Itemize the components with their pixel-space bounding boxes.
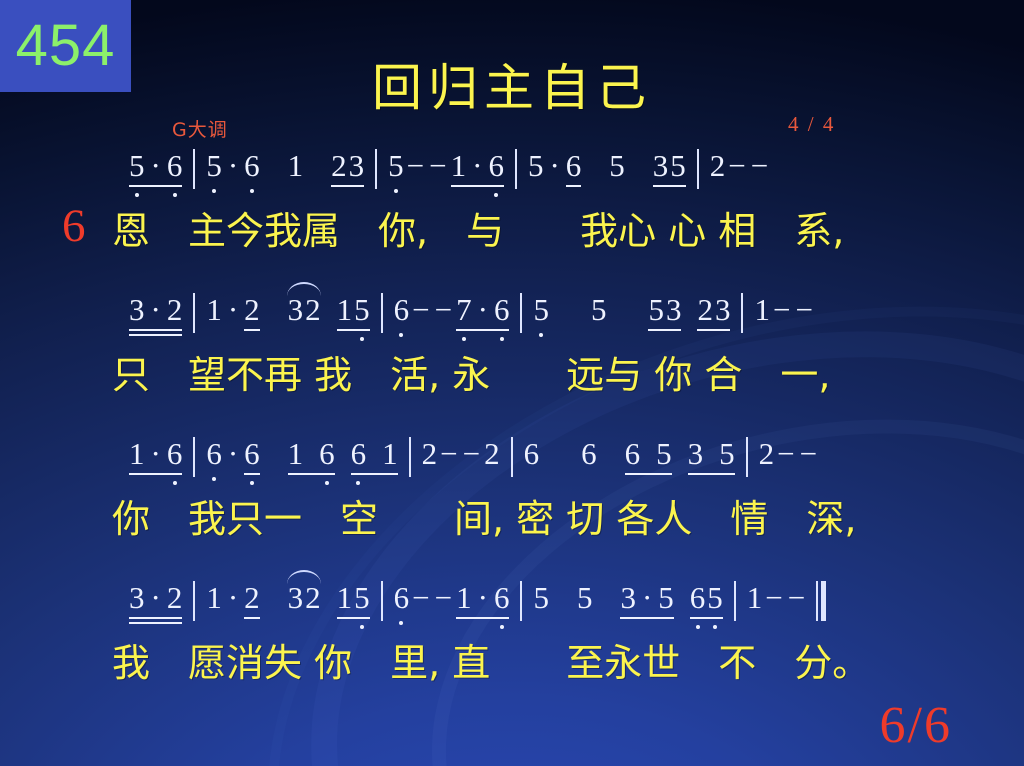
note-group: 1·6 (455, 580, 510, 623)
measure: 1· 2 32 15 (205, 292, 370, 335)
final-barline (816, 581, 826, 629)
measure: 2−− (709, 148, 771, 184)
note-group: 65 (689, 580, 724, 623)
measure: 2−− (758, 436, 820, 472)
barline (734, 581, 736, 621)
barline (511, 437, 513, 477)
note-group: 7·6 (455, 292, 510, 335)
note-group: 15 (336, 580, 371, 623)
note-group: 1·6 (450, 148, 505, 191)
notation-line-3: 1·6 6· 6 16 61 2−−2 (0, 436, 1024, 492)
measure: 5 5 53 23 (532, 292, 731, 335)
page-counter: 6/6 (880, 700, 952, 752)
measure: 5·6 (128, 148, 183, 191)
barline (193, 293, 195, 333)
score-system-3: 1·6 6· 6 16 61 2−−2 (0, 436, 1024, 580)
measure: 5· 6 5 35 (527, 148, 687, 191)
barline (409, 437, 411, 477)
measure: 5−− 1·6 (387, 148, 505, 191)
measure: 1·6 (128, 436, 183, 479)
note-group: 35 (687, 436, 736, 479)
barline (746, 437, 748, 477)
note-group: 3·5 (619, 580, 674, 623)
notation-line-1: 5·6 5·6 1 23 5−− 1·6 (0, 148, 1024, 204)
barline (515, 149, 517, 189)
time-signature-label: 4 / 4 (788, 112, 835, 137)
note-group-slurred: 32 (287, 292, 322, 335)
barline (381, 293, 383, 333)
note-group: 16 (287, 436, 336, 479)
measure: 5·6 1 23 (205, 148, 365, 191)
note-group: 65 (624, 436, 673, 479)
measure: 6· 6 16 61 (205, 436, 398, 479)
lyrics-line-4: 我 愿消失 你 里, 直 至永世 不 分。 (0, 636, 1024, 760)
note-group: 6 (565, 148, 583, 191)
score-system-1: 5·6 5·6 1 23 5−− 1·6 (0, 148, 1024, 292)
measure: 6−− 1·6 (393, 580, 511, 623)
notation-line-4: 3·2 1· 2 32 15 (0, 580, 1024, 636)
note-group: 3·2 (128, 292, 183, 335)
note-group: 35 (652, 148, 687, 191)
measure: 1−− (753, 292, 815, 328)
barline (193, 437, 195, 477)
measure: 1· 2 32 15 (205, 580, 370, 623)
note-group: 5·6 (128, 148, 183, 191)
measure: 6−− 7·6 (393, 292, 511, 335)
note-group-slurred: 32 (287, 580, 322, 623)
music-score: 5·6 5·6 1 23 5−− 1·6 (0, 148, 1024, 724)
barline (520, 293, 522, 333)
song-title: 回归主自己 (0, 48, 1024, 120)
notation-line-2: 3·2 1· 2 32 15 (0, 292, 1024, 348)
note-group: 53 (647, 292, 682, 335)
measure: 2−−2 (421, 436, 501, 472)
measure: 1−− (746, 580, 826, 628)
note-group: 3·2 (128, 580, 183, 623)
barline (193, 581, 195, 621)
score-system-4: 3·2 1· 2 32 15 (0, 580, 1024, 724)
score-system-2: 3·2 1· 2 32 15 (0, 292, 1024, 436)
note-group: 2 (243, 292, 261, 335)
note-group: 61 (350, 436, 399, 479)
barline (697, 149, 699, 189)
note-group: 23 (696, 292, 731, 335)
note-group: 15 (336, 292, 371, 335)
barline (375, 149, 377, 189)
measure: 3·2 (128, 580, 183, 623)
measure: 5 5 3·5 65 (532, 580, 723, 623)
measure: 6 6 65 35 (523, 436, 736, 479)
barline (381, 581, 383, 621)
measure: 3·2 (128, 292, 183, 335)
note-group: 23 (330, 148, 365, 191)
key-signature-label: G大调 (172, 115, 228, 142)
barline (520, 581, 522, 621)
note-group: 1·6 (128, 436, 183, 479)
note-group: 2 (243, 580, 261, 623)
slide-canvas: 454 回归主自己 G大调 4 / 4 6 5·6 5·6 1 (0, 0, 1024, 766)
note-group: 6 (243, 436, 261, 479)
barline (193, 149, 195, 189)
barline (741, 293, 743, 333)
